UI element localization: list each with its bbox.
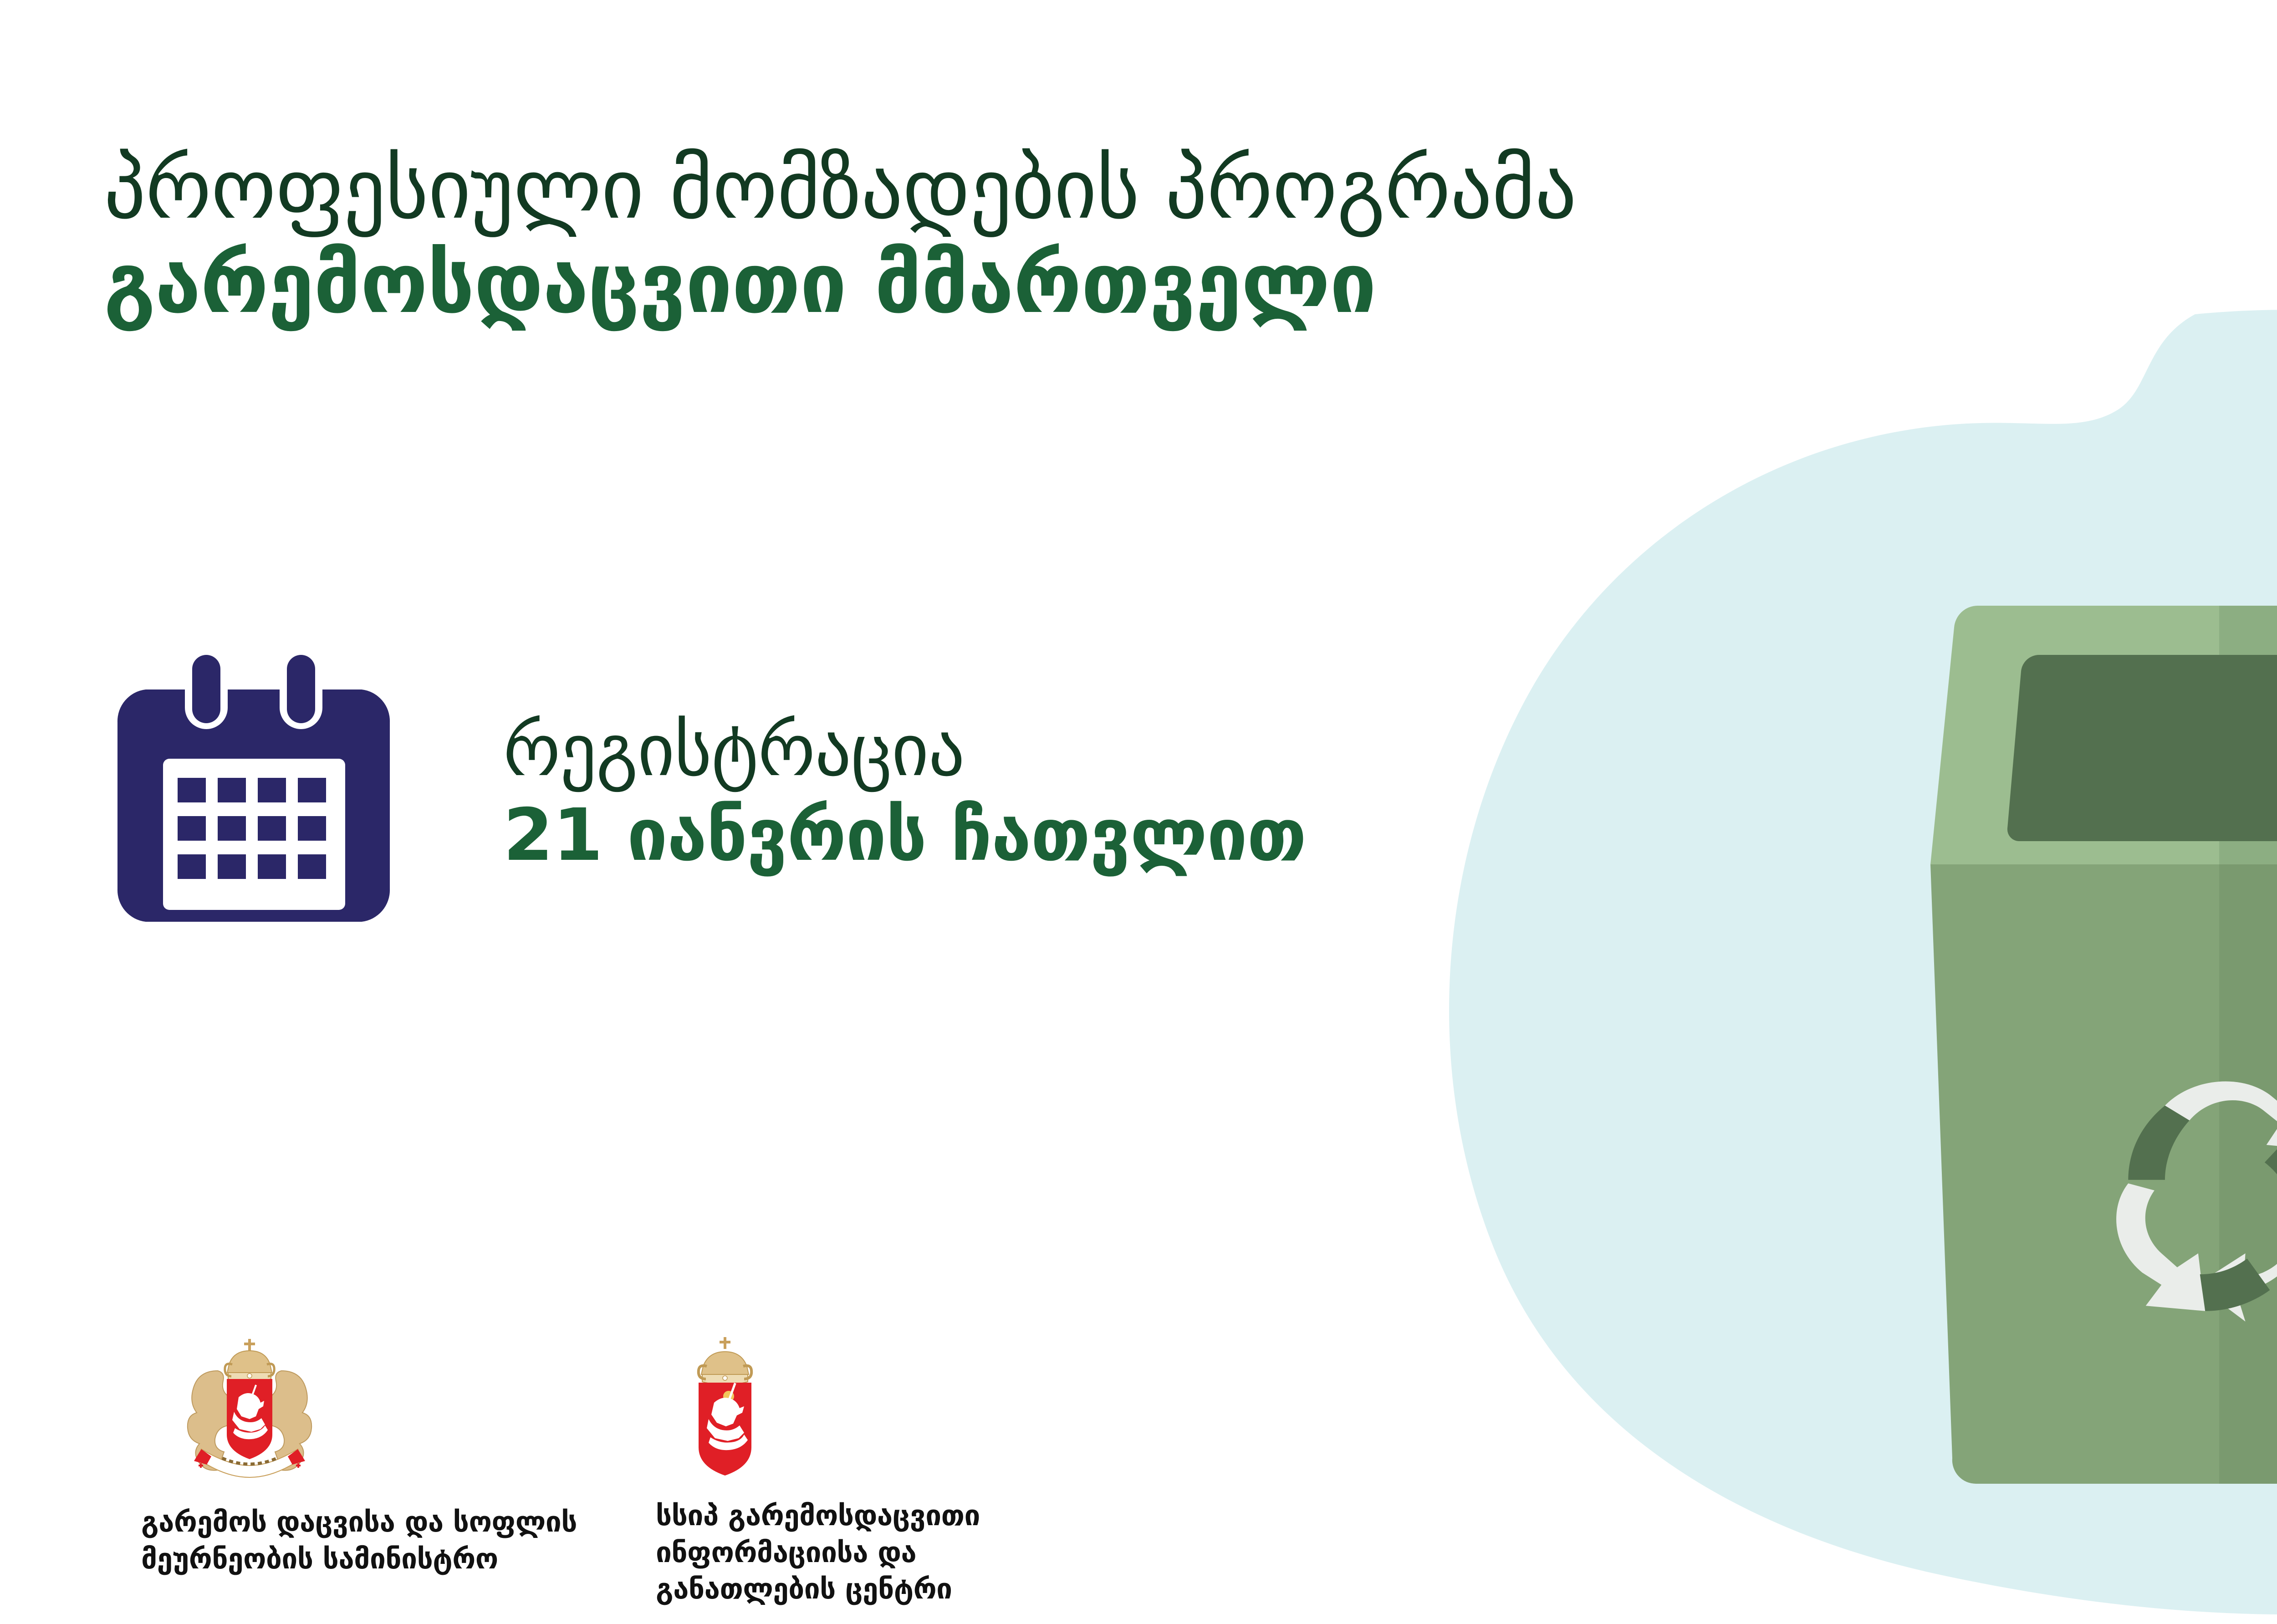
program-kicker: პროფესიული მომზადების პროგრამა — [104, 142, 1971, 236]
bin-body-left — [1930, 864, 2219, 1484]
recycling-bin-illustration — [1430, 273, 2277, 1624]
caption-line: სსიპ გარემოსდაცვითი — [656, 1497, 1079, 1534]
registration-text: რეგისტრაცია 21 იანვრის ჩათვლით — [503, 708, 1306, 886]
logo-caption-center: სსიპ გარემოსდაცვითი ინფორმაციისა და განა… — [656, 1497, 1079, 1608]
crown — [699, 1337, 751, 1385]
crown — [225, 1339, 274, 1382]
registration-deadline: 21 იანვრის ჩათვლით — [503, 793, 1306, 878]
headline-block: პროფესიული მომზადების პროგრამა გარემოსდა… — [104, 142, 1971, 331]
banner-canvas: პროფესიული მომზადების პროგრამა გარემოსდა… — [0, 0, 2277, 1624]
georgia-coat-of-arms-icon — [154, 1334, 345, 1485]
bin-opening — [2007, 655, 2277, 841]
caption-line: გარემოს დაცვისა და სოფლის — [141, 1504, 587, 1541]
caption-line: ინფორმაციისა და — [656, 1534, 1079, 1571]
caption-line: მეურნეობის სამინისტრო — [141, 1541, 587, 1578]
footer-logos: გარემოს დაცვისა და სოფლის მეურნეობის სამ… — [141, 1334, 1111, 1608]
calendar-icon — [114, 651, 392, 943]
logo-caption-ministry: გარემოს დაცვისა და სოფლის მეურნეობის სამ… — [141, 1504, 587, 1577]
georgia-shield-crown-icon — [670, 1334, 780, 1480]
registration-label: რეგისტრაცია — [503, 708, 1306, 793]
registration-block: რეგისტრაცია 21 იანვრის ჩათვლით — [114, 651, 1306, 943]
program-title: გარემოსდაცვითი მმართველი — [104, 236, 1971, 331]
caption-line: განათლების ცენტრი — [656, 1571, 1079, 1608]
logo-block-ministry: გარემოს დაცვისა და სოფლის მეურნეობის სამ… — [141, 1334, 601, 1577]
bin-body-right — [2219, 864, 2277, 1484]
logo-block-center: სსიპ გარემოსდაცვითი ინფორმაციისა და განა… — [656, 1334, 1111, 1608]
